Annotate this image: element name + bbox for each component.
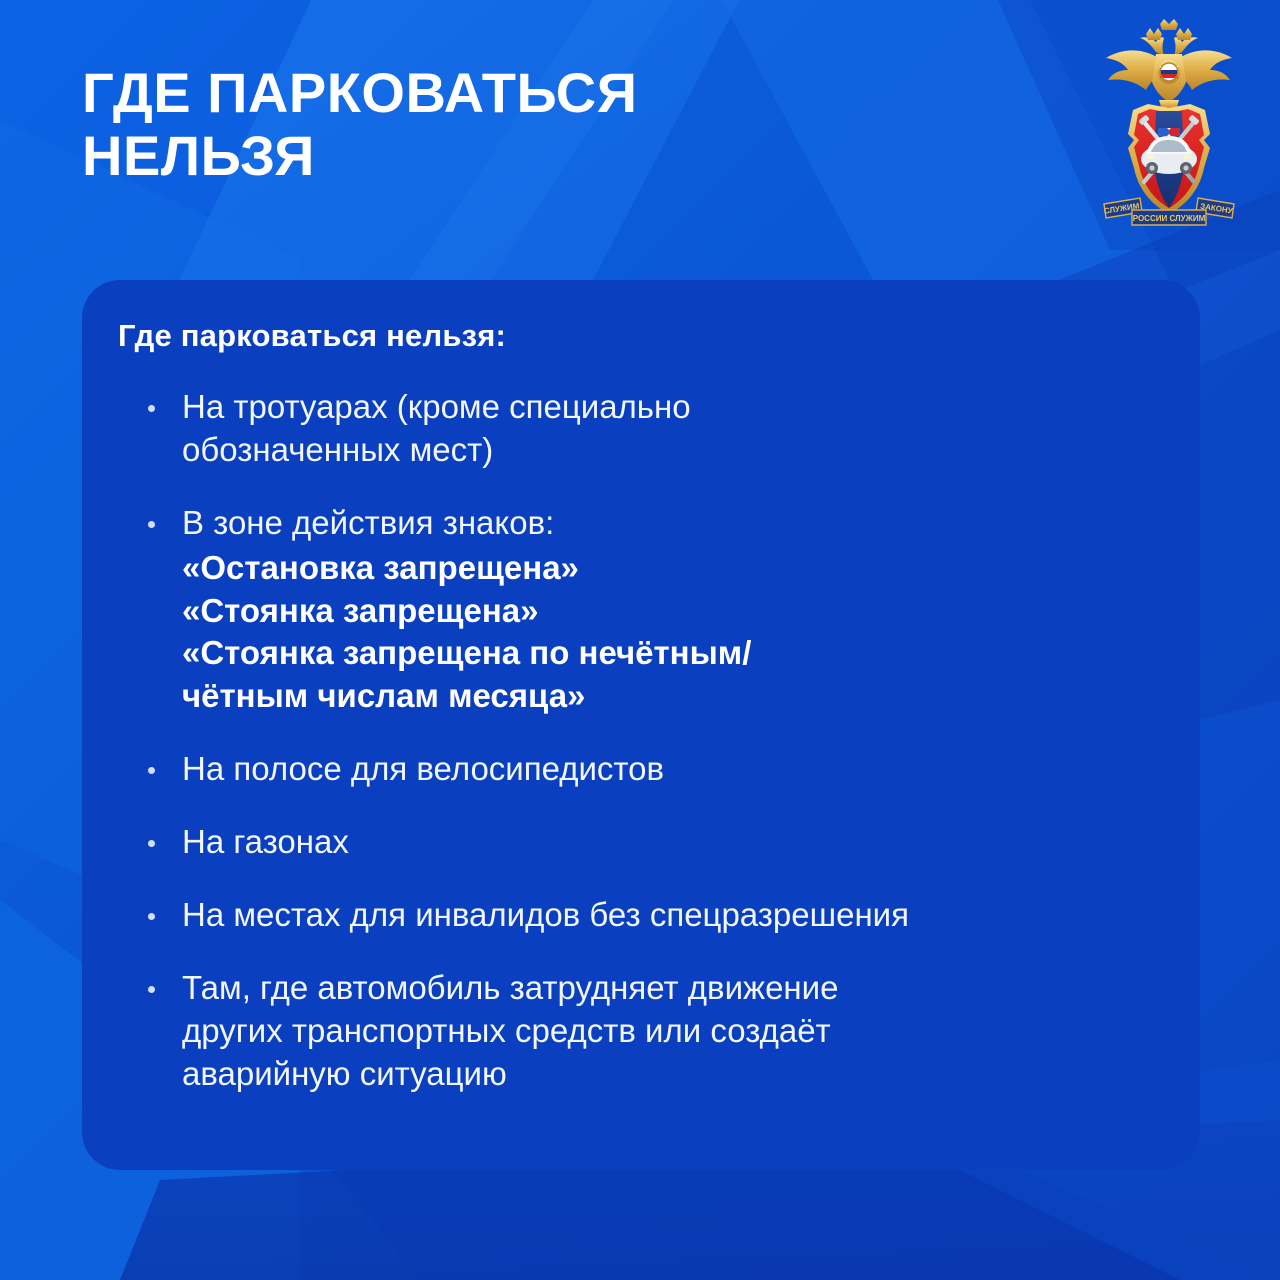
- page-title: ГДЕ ПАРКОВАТЬСЯ НЕЛЬЗЯ: [82, 62, 842, 187]
- gibdd-emblem-icon: СЛУЖИМ ЗАКОНУ РОССИИ СЛУЖИМ: [1084, 18, 1254, 233]
- bullet-dot-icon: [148, 767, 155, 774]
- content-card: Где парковаться нельзя: На тротуарах (кр…: [82, 280, 1200, 1170]
- list-item-text: На газонах: [182, 821, 1172, 864]
- bullet-dot-icon: [148, 840, 155, 847]
- ribbon-center-text: РОССИИ СЛУЖИМ: [1133, 214, 1206, 223]
- bullet-dot-icon: [148, 521, 155, 528]
- list-item: На местах для инвалидов без спецразрешен…: [140, 894, 1172, 937]
- list-item: В зоне действия знаков: «Остановка запре…: [140, 502, 1172, 718]
- bullet-dot-icon: [148, 913, 155, 920]
- list-item-text: На тротуарах (кроме специально обозначен…: [182, 386, 1172, 472]
- list-item-text: Там, где автомобиль затрудняет движение …: [182, 967, 1172, 1096]
- list-item-text: На полосе для велосипедистов: [182, 748, 1172, 791]
- list-item: На тротуарах (кроме специально обозначен…: [140, 386, 1172, 472]
- list-item-text: На местах для инвалидов без спецразрешен…: [182, 894, 1172, 937]
- infographic-slide: ГДЕ ПАРКОВАТЬСЯ НЕЛЬЗЯ: [0, 0, 1280, 1280]
- prohibition-list: На тротуарах (кроме специально обозначен…: [140, 386, 1172, 1096]
- list-item-sign-names: «Остановка запрещена» «Стоянка запрещена…: [182, 547, 1172, 719]
- list-item: На газонах: [140, 821, 1172, 864]
- list-item-text: В зоне действия знаков:: [182, 502, 1172, 545]
- card-heading: Где парковаться нельзя:: [118, 318, 506, 354]
- list-item: На полосе для велосипедистов: [140, 748, 1172, 791]
- header: ГДЕ ПАРКОВАТЬСЯ НЕЛЬЗЯ: [0, 0, 1280, 280]
- bullet-dot-icon: [148, 405, 155, 412]
- bullet-dot-icon: [148, 986, 155, 993]
- list-item: Там, где автомобиль затрудняет движение …: [140, 967, 1172, 1096]
